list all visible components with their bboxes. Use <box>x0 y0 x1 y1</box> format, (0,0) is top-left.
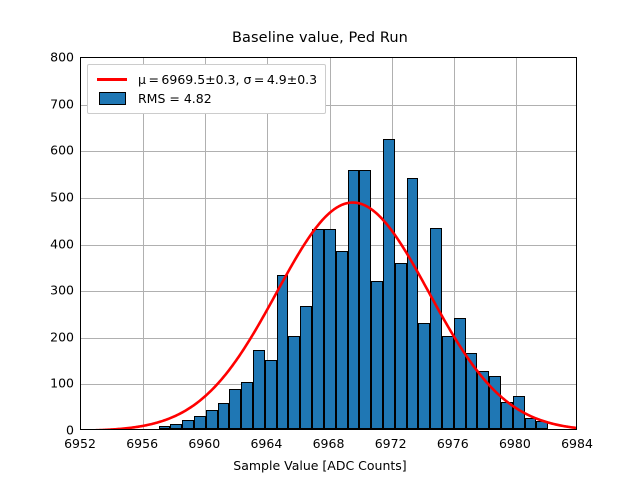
y-tick-label: 600 <box>14 143 74 158</box>
y-tick-label: 800 <box>14 50 74 65</box>
y-tick-mark <box>80 198 81 199</box>
y-tick-mark <box>80 58 81 59</box>
y-tick-label: 100 <box>14 376 74 391</box>
x-tick-mark <box>81 429 82 430</box>
x-tick-mark <box>205 429 206 430</box>
y-tick-mark <box>80 384 81 385</box>
y-tick-label: 500 <box>14 189 74 204</box>
gaussian-curve-path <box>81 203 577 430</box>
x-tick-mark <box>330 429 331 430</box>
x-tick-label: 6964 <box>236 436 296 451</box>
y-tick-mark <box>80 105 81 106</box>
legend-label-histogram: RMS = 4.82 <box>138 91 212 106</box>
y-tick-label: 700 <box>14 96 74 111</box>
y-tick-label: 300 <box>14 283 74 298</box>
x-tick-label: 6960 <box>174 436 234 451</box>
x-tick-label: 6976 <box>423 436 483 451</box>
legend-item-histogram: RMS = 4.82 <box>94 89 317 108</box>
legend-line-key-icon <box>94 78 130 81</box>
x-tick-label: 6972 <box>361 436 421 451</box>
x-tick-label: 6984 <box>547 436 607 451</box>
x-axis-label: Sample Value [ADC Counts] <box>0 458 640 473</box>
y-tick-mark <box>80 338 81 339</box>
x-tick-mark <box>267 429 268 430</box>
y-tick-mark <box>80 151 81 152</box>
legend-item-fit: μ = 6969.5±0.3, σ = 4.9±0.3 <box>94 70 317 89</box>
figure-canvas: Baseline value, Ped Run μ = 6969.5±0.3, … <box>0 0 640 480</box>
y-tick-mark <box>80 245 81 246</box>
x-tick-mark <box>143 429 144 430</box>
x-tick-label: 6968 <box>299 436 359 451</box>
legend: μ = 6969.5±0.3, σ = 4.9±0.3 RMS = 4.82 <box>87 64 326 114</box>
y-tick-label: 200 <box>14 329 74 344</box>
x-tick-mark <box>454 429 455 430</box>
x-tick-mark <box>516 429 517 430</box>
y-tick-label: 400 <box>14 236 74 251</box>
y-tick-mark <box>80 291 81 292</box>
plot-area: μ = 6969.5±0.3, σ = 4.9±0.3 RMS = 4.82 E… <box>80 57 577 430</box>
x-tick-mark <box>392 429 393 430</box>
x-tick-label: 6980 <box>485 436 545 451</box>
legend-label-fit: μ = 6969.5±0.3, σ = 4.9±0.3 <box>138 72 317 87</box>
chart-title: Baseline value, Ped Run <box>0 30 640 46</box>
x-tick-label: 6956 <box>112 436 172 451</box>
legend-patch-key-icon <box>94 92 130 105</box>
x-tick-label: 6952 <box>50 436 110 451</box>
